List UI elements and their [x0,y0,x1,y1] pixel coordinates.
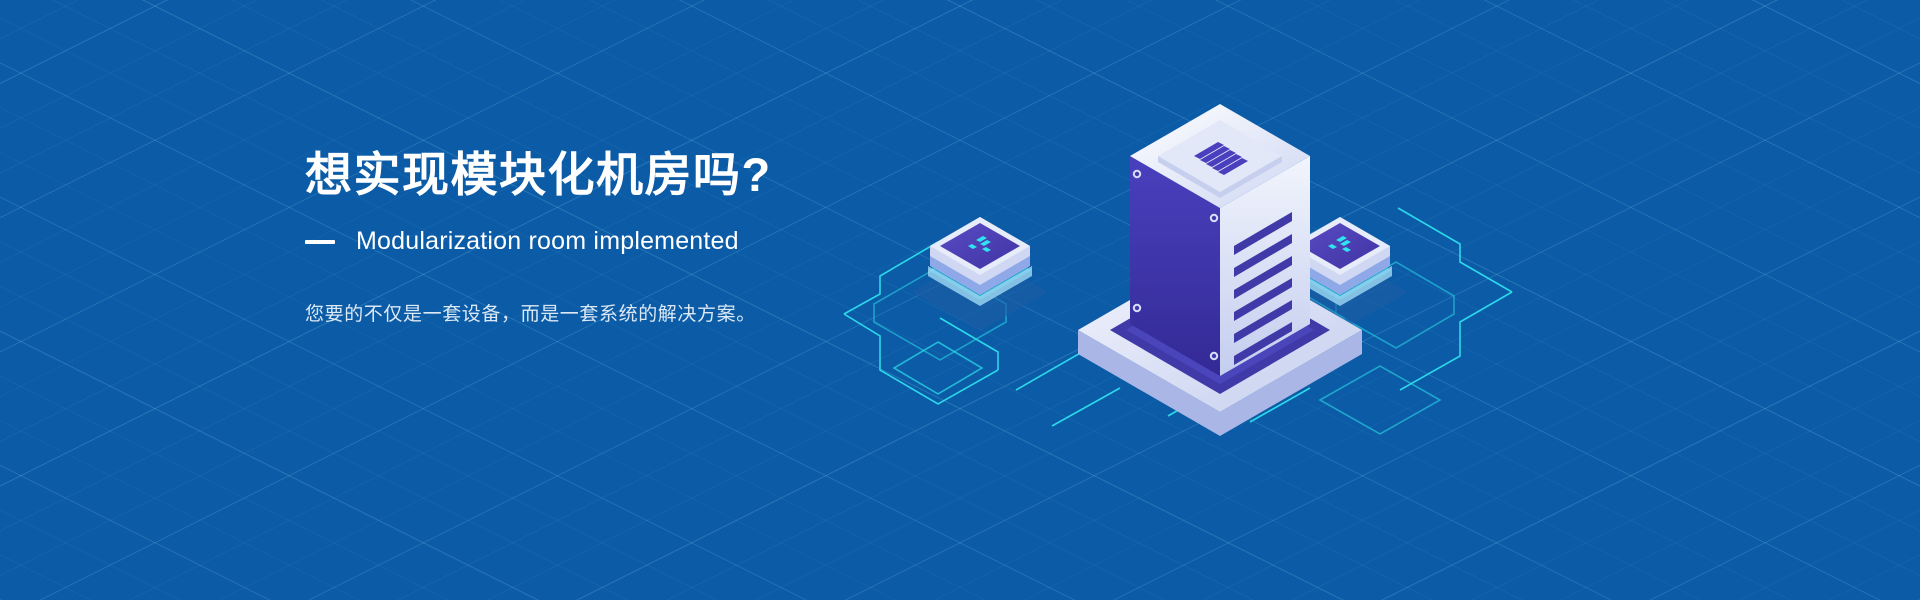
server-rack [1130,104,1310,376]
server-illustration [820,70,1600,470]
dash-divider-icon [305,240,335,244]
hero-banner: 想实现模块化机房吗? Modularization room implement… [0,0,1920,600]
banner-subheadline: Modularization room implemented [356,227,739,256]
